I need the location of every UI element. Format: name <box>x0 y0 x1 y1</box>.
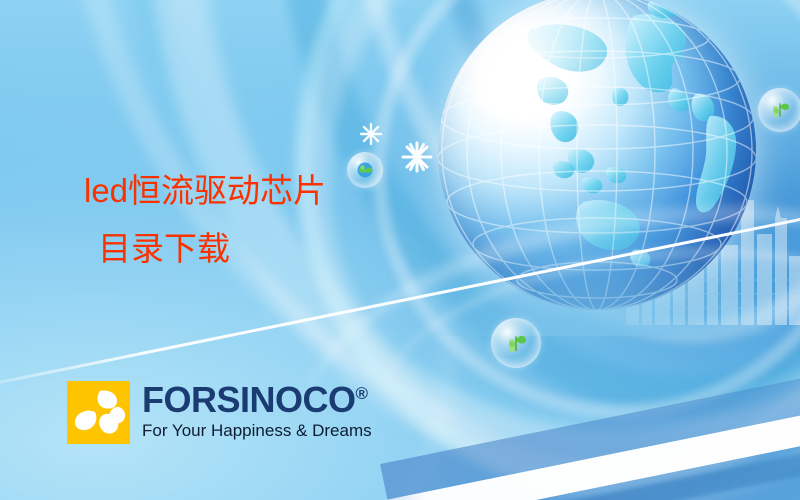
registered-trademark-icon: ® <box>356 384 369 403</box>
bubble-with-leaf-icon <box>491 318 541 368</box>
page-title: led恒流驱动芯片 目录下载 <box>84 162 504 278</box>
green-sprout-icon <box>767 97 793 123</box>
green-sprout-icon <box>501 328 531 358</box>
headline-line-1: led恒流驱动芯片 <box>84 162 504 220</box>
four-petal-pinwheel-icon <box>67 381 130 444</box>
brand-text: FORSINOCO® For Your Happiness & Dreams <box>142 382 372 441</box>
brand-tagline: For Your Happiness & Dreams <box>142 421 372 441</box>
brand-name: FORSINOCO® <box>142 382 372 418</box>
brand-logo: FORSINOCO® For Your Happiness & Dreams <box>67 381 372 444</box>
bubble-with-leaf-icon <box>758 88 800 132</box>
brand-name-text: FORSINOCO <box>142 379 356 420</box>
headline-line-2: 目录下载 <box>84 220 504 278</box>
promo-banner: led恒流驱动芯片 目录下载 FORSINOCO® For Your Happi… <box>0 0 800 500</box>
